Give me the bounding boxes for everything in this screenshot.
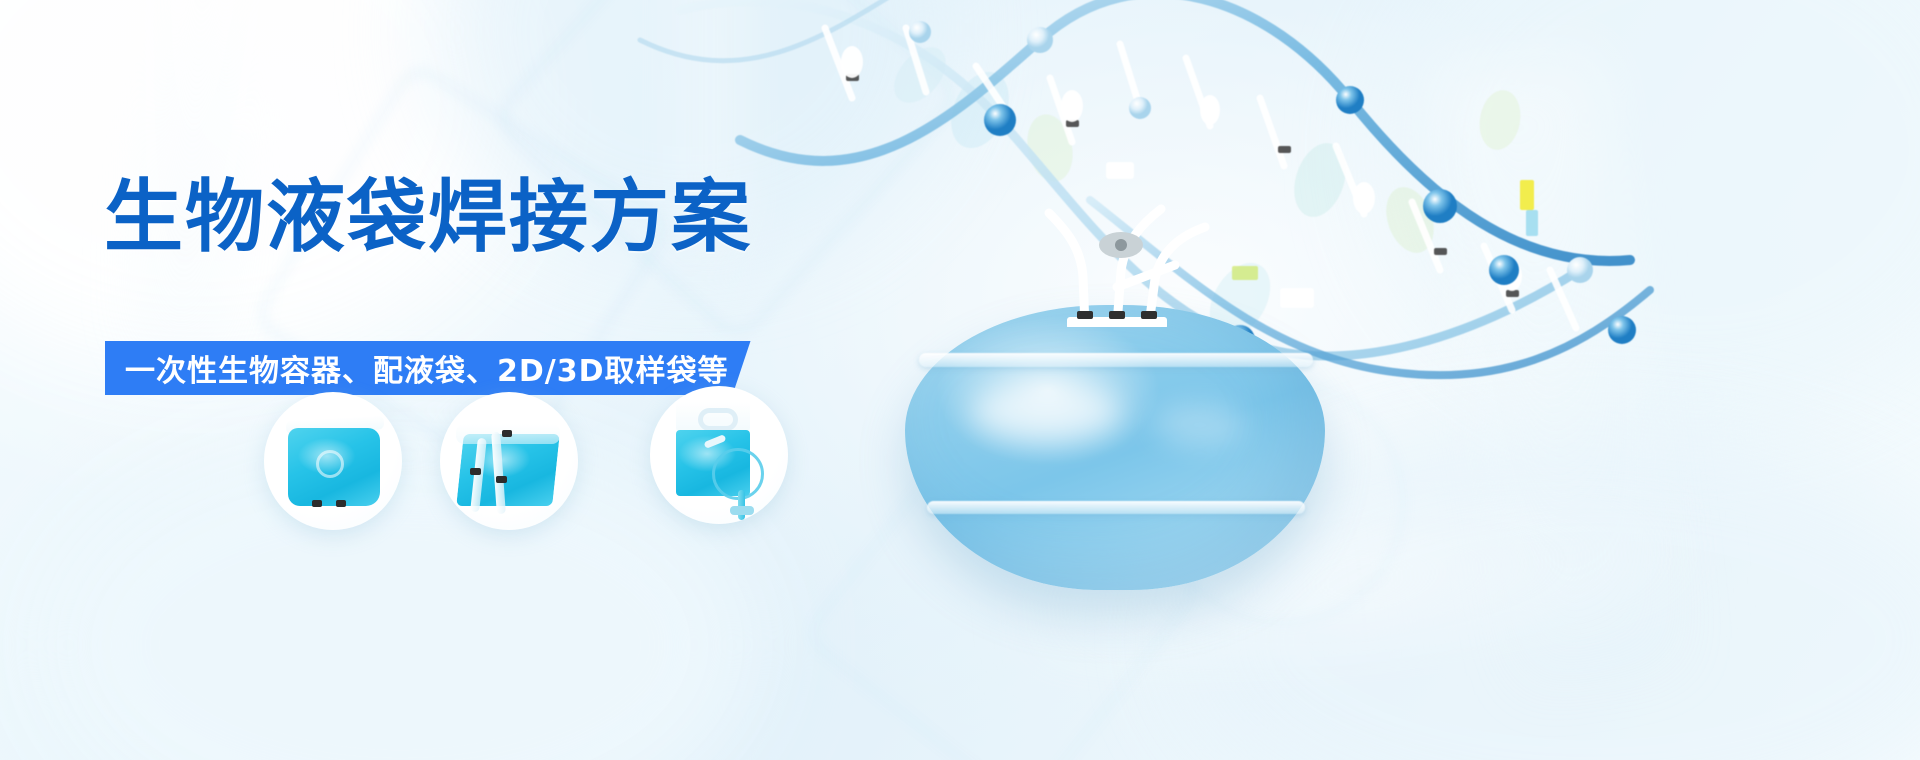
product-thumb-cube-bag[interactable] xyxy=(440,392,578,530)
thumb2-clamp-3 xyxy=(502,430,512,437)
bag-bottom-seam xyxy=(927,501,1305,514)
bag-highlight-1 xyxy=(971,383,1121,441)
thumb3-handle-slot xyxy=(698,408,738,431)
bag-port-manifold xyxy=(1025,187,1255,327)
thumb1-clamp-2 xyxy=(336,500,346,507)
hero-bioprocess-bag xyxy=(905,305,1325,605)
thumb3-outlet-tube xyxy=(738,490,745,520)
thumb2-clamp-2 xyxy=(496,476,507,483)
subtitle-text: 一次性生物容器、配液袋、2D/3D取样袋等 xyxy=(125,346,729,390)
thumb3-connector xyxy=(730,506,754,515)
bag-body xyxy=(905,305,1325,590)
page-title: 生物液袋焊接方案 xyxy=(104,178,752,257)
thumb1-clamp-1 xyxy=(312,500,322,507)
thumb1-port-ring xyxy=(316,450,344,478)
product-thumb-sampling-bag[interactable] xyxy=(650,386,788,524)
subtitle-banner: 一次性生物容器、配液袋、2D/3D取样袋等 xyxy=(105,341,751,395)
thumb2-clamp-1 xyxy=(470,468,481,475)
bag-top-seam xyxy=(919,353,1313,367)
bag-highlight-2 xyxy=(1155,405,1245,445)
hero-banner: 生物液袋焊接方案 一次性生物容器、配液袋、2D/3D取样袋等 xyxy=(0,0,1920,760)
product-thumb-pillow-bag[interactable] xyxy=(264,392,402,530)
